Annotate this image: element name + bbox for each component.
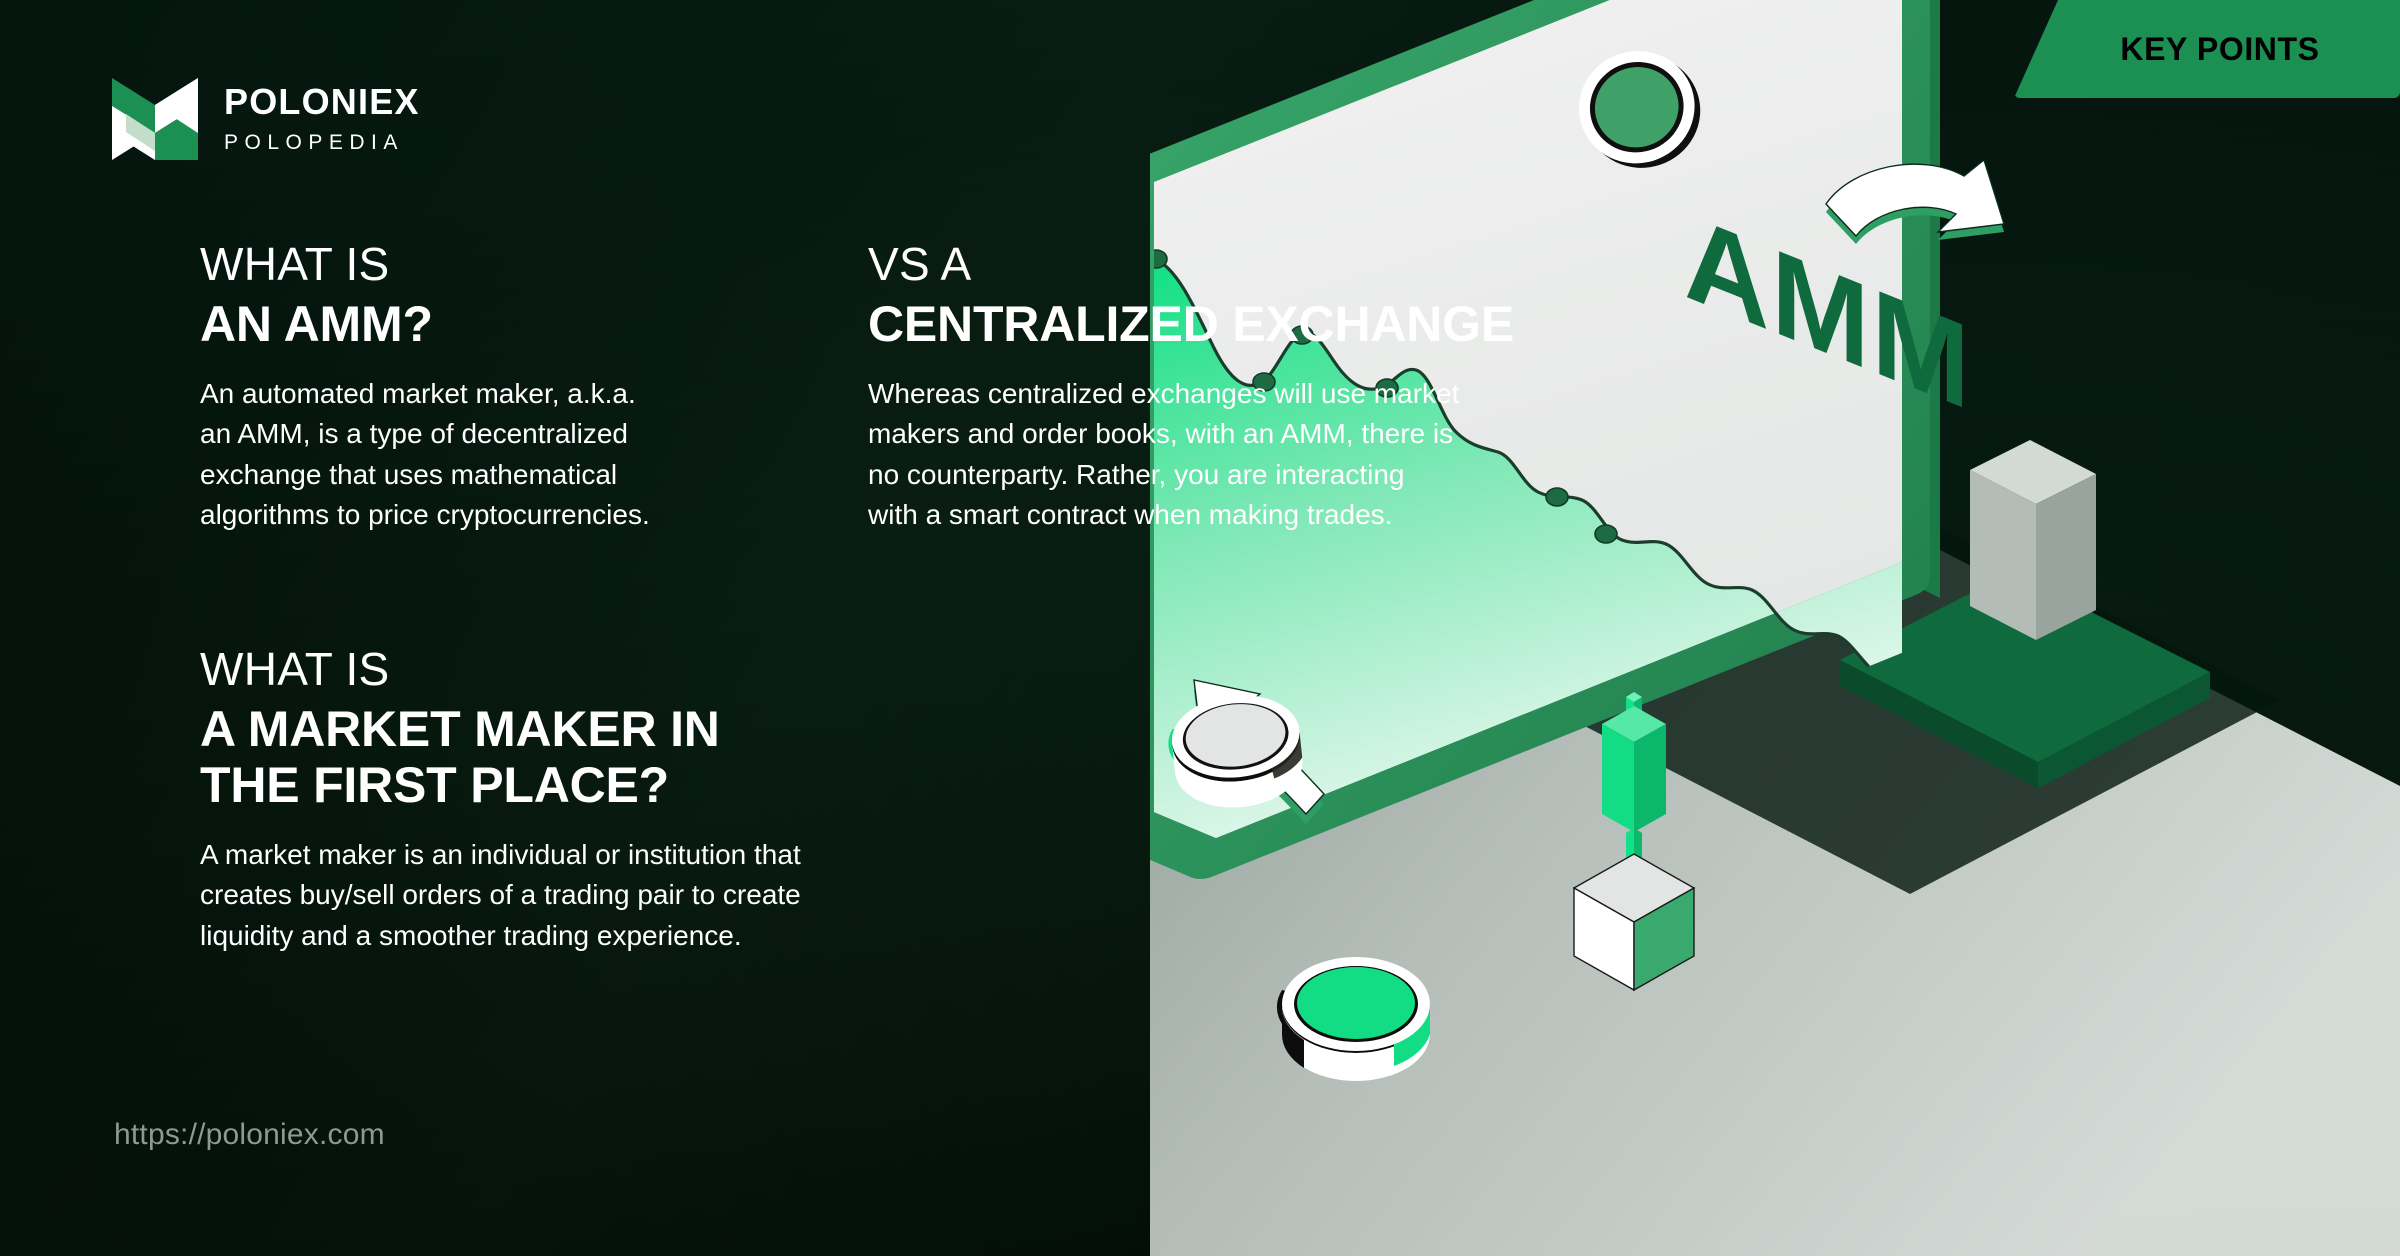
key-points-label: KEY POINTS bbox=[2120, 31, 2319, 68]
section-kicker: VS A bbox=[868, 240, 1728, 290]
section-headline: A MARKET MAKER IN THE FIRST PLACE? bbox=[200, 701, 1000, 813]
brand-subtitle: POLOPEDIA bbox=[224, 132, 420, 153]
section-vs-centralized-exchange: VS A CENTRALIZED EXCHANGE Whereas centra… bbox=[868, 240, 1728, 536]
section-what-is-an-amm: WHAT IS AN AMM? An automated market make… bbox=[200, 240, 840, 536]
isometric-illustration: AMM bbox=[1150, 0, 2400, 1256]
section-body: Whereas centralized exchanges will use m… bbox=[868, 374, 1728, 536]
key-points-badge: KEY POINTS bbox=[2014, 0, 2400, 98]
infographic-canvas: AMM bbox=[0, 0, 2400, 1256]
brand-wordmark: POLONIEX bbox=[224, 84, 420, 120]
section-kicker: WHAT IS bbox=[200, 645, 1000, 695]
brand-wordmark-group: POLONIEX POLOPEDIA bbox=[224, 78, 420, 153]
brand-logo[interactable]: POLONIEX POLOPEDIA bbox=[112, 78, 420, 160]
section-body: A market maker is an individual or insti… bbox=[200, 835, 1000, 957]
section-body: An automated market maker, a.k.a. an AMM… bbox=[200, 374, 840, 536]
section-headline: AN AMM? bbox=[200, 296, 840, 352]
section-kicker: WHAT IS bbox=[200, 240, 840, 290]
section-what-is-a-market-maker: WHAT IS A MARKET MAKER IN THE FIRST PLAC… bbox=[200, 645, 1000, 956]
green-coin-bottom-icon bbox=[1277, 957, 1430, 1081]
section-headline: CENTRALIZED EXCHANGE bbox=[868, 296, 1728, 352]
site-url[interactable]: https://poloniex.com bbox=[114, 1118, 385, 1152]
poloniex-bowtie-logo-icon bbox=[112, 78, 198, 160]
